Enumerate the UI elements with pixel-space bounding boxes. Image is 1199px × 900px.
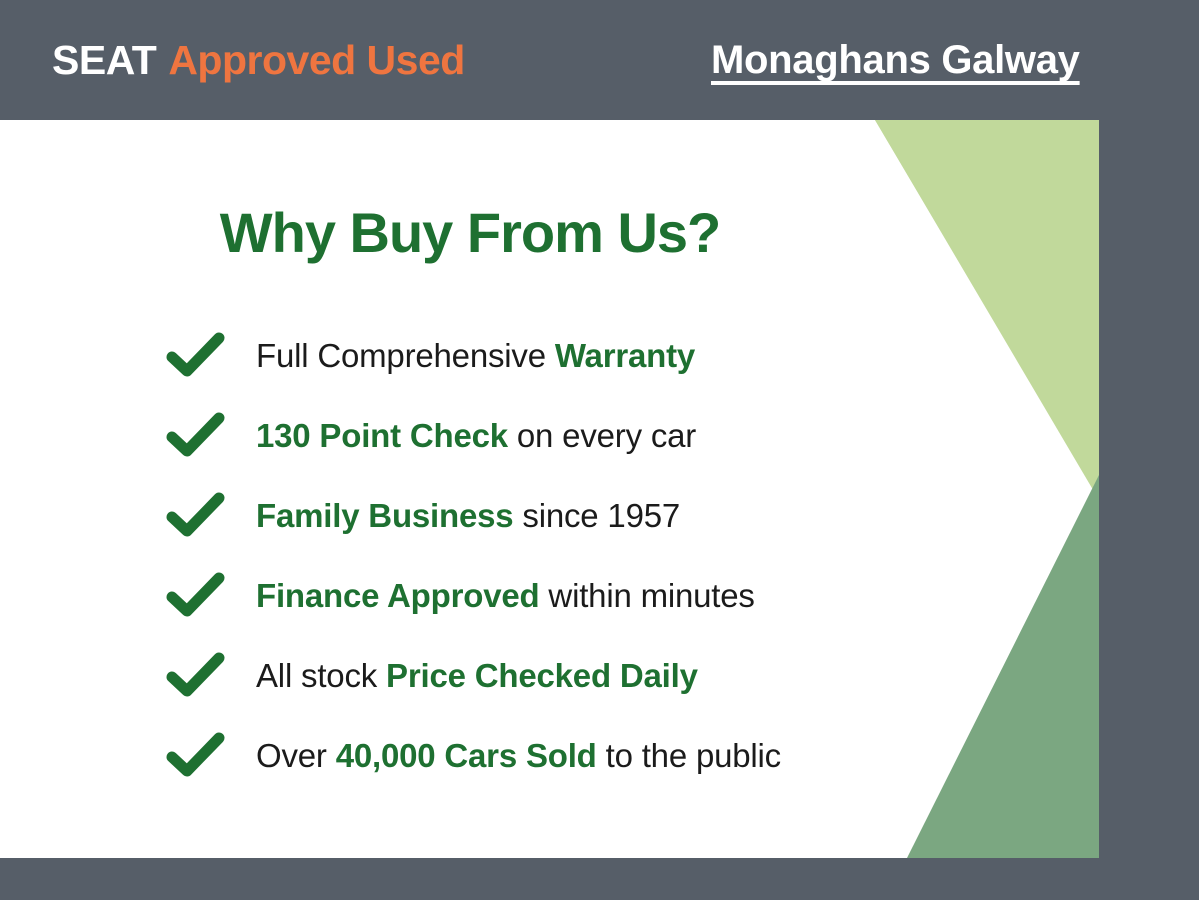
dealer-name: Monaghans Galway bbox=[711, 40, 1080, 80]
list-item-label: Over 40,000 Cars Sold to the public bbox=[256, 739, 781, 772]
benefits-list: Full Comprehensive Warranty 130 Point Ch… bbox=[166, 315, 1026, 795]
list-item-label: 130 Point Check on every car bbox=[256, 419, 696, 452]
check-icon bbox=[166, 651, 228, 699]
page-title: Why Buy From Us? bbox=[0, 205, 940, 261]
content-card: Why Buy From Us? Full Comprehensive Warr… bbox=[0, 120, 1099, 858]
brand-approved-used: Approved Used bbox=[168, 37, 465, 83]
list-item-label: Finance Approved within minutes bbox=[256, 579, 755, 612]
list-item-label: Family Business since 1957 bbox=[256, 499, 680, 532]
footer-bar bbox=[0, 858, 1199, 900]
check-icon bbox=[166, 571, 228, 619]
check-icon bbox=[166, 331, 228, 379]
brand-lockup: SEATApproved Used bbox=[52, 40, 465, 81]
list-item: All stock Price Checked Daily bbox=[166, 635, 1026, 715]
check-icon bbox=[166, 731, 228, 779]
list-item: Full Comprehensive Warranty bbox=[166, 315, 1026, 395]
list-item: Over 40,000 Cars Sold to the public bbox=[166, 715, 1026, 795]
list-item: 130 Point Check on every car bbox=[166, 395, 1026, 475]
list-item-label: Full Comprehensive Warranty bbox=[256, 339, 695, 372]
check-icon bbox=[166, 491, 228, 539]
check-icon bbox=[166, 411, 228, 459]
brand-seat: SEAT bbox=[52, 37, 156, 83]
header-banner: SEATApproved Used Monaghans Galway bbox=[0, 0, 1199, 120]
list-item: Family Business since 1957 bbox=[166, 475, 1026, 555]
list-item: Finance Approved within minutes bbox=[166, 555, 1026, 635]
slide-canvas: SEATApproved Used Monaghans Galway Why B… bbox=[0, 0, 1199, 900]
list-item-label: All stock Price Checked Daily bbox=[256, 659, 698, 692]
